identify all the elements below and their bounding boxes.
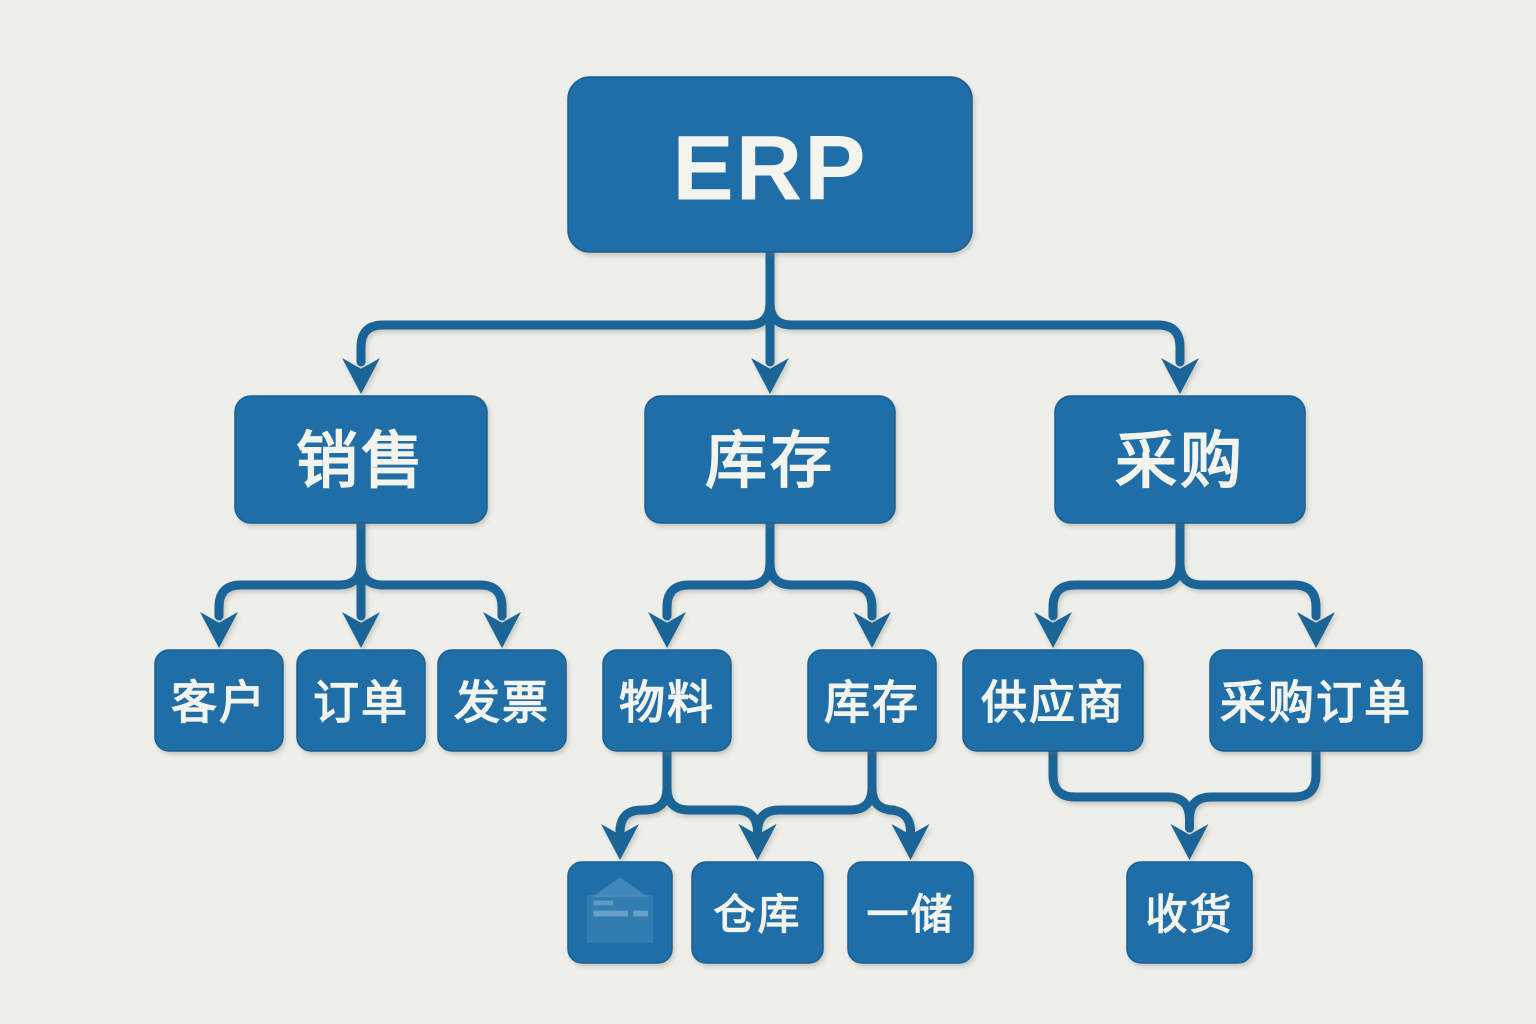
node-warehouse[interactable]: 仓库 xyxy=(692,862,823,963)
nodes-layer: ERP销售库存采购客户订单发票物料库存供应商采购订单仓库一储收货 xyxy=(155,77,1422,963)
connector-procurement-supplier xyxy=(1034,523,1180,648)
connector-line xyxy=(361,523,502,616)
erp-diagram-canvas: ERP销售库存采购客户订单发票物料库存供应商采购订单仓库一储收货 xyxy=(0,0,1536,1024)
node-label: 采购 xyxy=(1115,427,1245,496)
connector-inventory-material xyxy=(648,523,770,648)
node-label: 发票 xyxy=(454,677,550,729)
node-storage-bin[interactable]: 一储 xyxy=(848,862,973,963)
connector-stock-bin xyxy=(872,751,930,860)
node-label: 销售 xyxy=(296,427,426,496)
connector-line xyxy=(1180,523,1316,616)
node-label: 订单 xyxy=(313,677,409,729)
connector-line xyxy=(219,523,361,616)
connector-line xyxy=(1053,523,1180,616)
connector-inventory-stock xyxy=(770,523,891,648)
node-label: ERP xyxy=(672,118,867,220)
node-order[interactable]: 订单 xyxy=(297,650,425,751)
connector-line xyxy=(667,751,758,832)
node-purchase-order[interactable]: 采购订单 xyxy=(1210,650,1422,751)
connector-procurement-po xyxy=(1180,523,1335,648)
erp-hierarchy-diagram: ERP销售库存采购客户订单发票物料库存供应商采购订单仓库一储收货 xyxy=(0,0,1536,1024)
connector-line xyxy=(620,751,667,832)
connector-line xyxy=(872,751,911,832)
node-erp[interactable]: ERP xyxy=(568,77,972,252)
connector-stock-warehouse2 xyxy=(739,751,873,860)
node-material-icon-box[interactable] xyxy=(568,862,672,963)
connector-line xyxy=(361,252,770,362)
node-goods-receipt[interactable]: 收货 xyxy=(1127,862,1252,963)
connector-line xyxy=(1190,751,1317,828)
connector-po-receipt xyxy=(1190,751,1317,828)
node-label: 仓库 xyxy=(713,891,801,938)
node-label: 库存 xyxy=(824,677,920,729)
connector-erp-procurement xyxy=(770,252,1199,394)
connector-sales-customer xyxy=(200,523,361,648)
connectors-layer xyxy=(200,252,1335,860)
node-label: 供应商 xyxy=(981,677,1125,729)
connector-erp-sales xyxy=(342,252,770,394)
node-label: 物料 xyxy=(619,677,715,729)
node-sales[interactable]: 销售 xyxy=(235,396,487,523)
connector-sales-invoice xyxy=(361,523,521,648)
node-label: 收货 xyxy=(1145,891,1233,938)
node-invoice[interactable]: 发票 xyxy=(438,650,566,751)
connector-supplier-receipt xyxy=(1053,751,1190,828)
node-inventory[interactable]: 库存 xyxy=(645,396,895,523)
node-label: 一储 xyxy=(866,891,954,938)
node-procurement[interactable]: 采购 xyxy=(1055,396,1305,523)
node-supplier[interactable]: 供应商 xyxy=(963,650,1143,751)
node-label: 采购订单 xyxy=(1220,677,1412,729)
connector-line xyxy=(1053,751,1190,828)
node-customer[interactable]: 客户 xyxy=(155,650,283,751)
connector-line xyxy=(667,523,770,616)
node-label: 客户 xyxy=(171,677,267,729)
node-label: 库存 xyxy=(705,427,835,496)
node-stock[interactable]: 库存 xyxy=(808,650,936,751)
connector-line xyxy=(770,252,1180,362)
connector-line xyxy=(758,751,873,832)
connector-line xyxy=(770,523,872,616)
connector-material-iconbox xyxy=(601,751,667,860)
node-material[interactable]: 物料 xyxy=(603,650,731,751)
